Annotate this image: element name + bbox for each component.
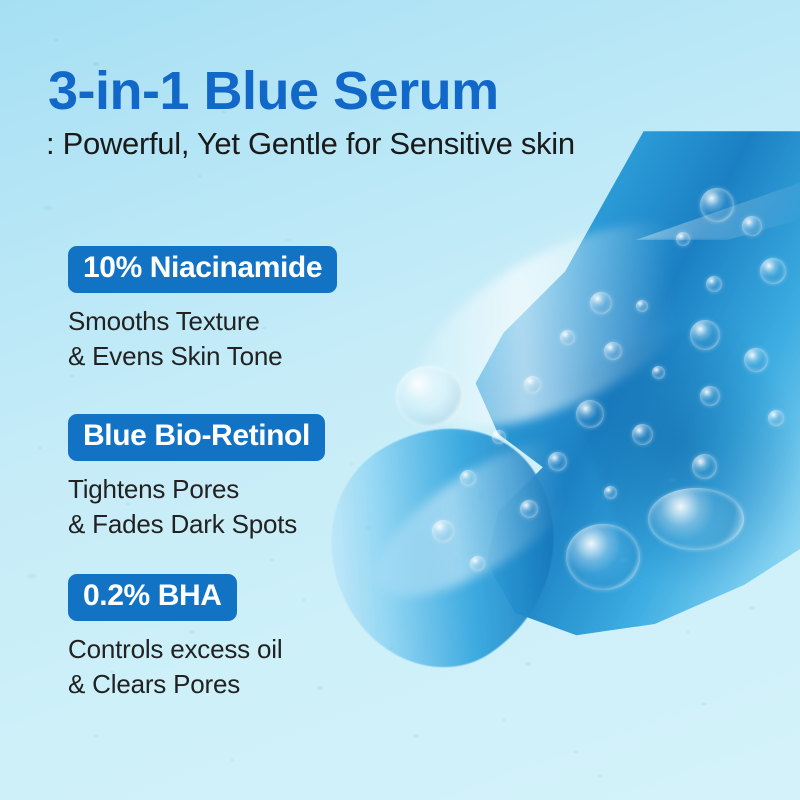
- ingredient-description: Smooths Texture & Evens Skin Tone: [68, 304, 337, 374]
- page-title: 3-in-1 Blue Serum: [48, 60, 499, 122]
- gel-bubble: [744, 348, 768, 372]
- ingredient-badge: 0.2% BHA: [68, 574, 237, 621]
- gel-bubble: [590, 292, 612, 314]
- page-subtitle: : Powerful, Yet Gentle for Sensitive ski…: [46, 126, 575, 162]
- gel-bubble: [700, 386, 720, 406]
- feature-item: 0.2% BHA Controls excess oil & Clears Po…: [68, 574, 282, 702]
- gel-bubble: [632, 424, 653, 445]
- product-poster: 3-in-1 Blue Serum : Powerful, Yet Gentle…: [0, 0, 800, 800]
- gel-bubble: [460, 470, 476, 486]
- gel-bubble: [676, 232, 690, 246]
- feature-item: Blue Bio-Retinol Tightens Pores & Fades …: [68, 414, 325, 542]
- gel-shadow: [562, 302, 800, 618]
- gel-edge-highlight: [560, 120, 800, 240]
- gel-highlight-secondary: [354, 410, 615, 626]
- gel-bubble: [604, 486, 617, 499]
- gel-bubble: [690, 320, 720, 350]
- gel-bubble: [432, 520, 454, 542]
- gel-bubble: [636, 300, 648, 312]
- ingredient-badge: Blue Bio-Retinol: [68, 414, 325, 461]
- gel-bubble: [706, 276, 722, 292]
- gel-bubble-large: [648, 488, 744, 550]
- gel-bubble: [604, 342, 622, 360]
- gel-highlight: [384, 181, 746, 468]
- gel-body-shape: [330, 120, 800, 680]
- gel-bubble: [520, 500, 538, 518]
- gel-bubble: [524, 376, 541, 393]
- gel-bubble: [652, 366, 665, 379]
- gel-bubble: [560, 330, 575, 345]
- gel-bubble: [742, 216, 762, 236]
- gel-bubble-large: [396, 366, 462, 426]
- gel-bubble: [768, 410, 784, 426]
- gel-bubble: [548, 452, 567, 471]
- gel-bubble: [576, 400, 604, 428]
- gel-bubble: [692, 454, 717, 479]
- gel-tip-shape: [285, 385, 604, 704]
- gel-bubble: [760, 258, 786, 284]
- ingredient-description: Tightens Pores & Fades Dark Spots: [68, 472, 325, 542]
- gel-bubble: [470, 556, 485, 571]
- gel-bubble-large: [566, 524, 640, 590]
- ingredient-badge: 10% Niacinamide: [68, 246, 337, 293]
- feature-item: 10% Niacinamide Smooths Texture & Evens …: [68, 246, 337, 374]
- gel-bubble: [700, 188, 734, 222]
- ingredient-description: Controls excess oil & Clears Pores: [68, 632, 282, 702]
- gel-bubble: [492, 430, 506, 444]
